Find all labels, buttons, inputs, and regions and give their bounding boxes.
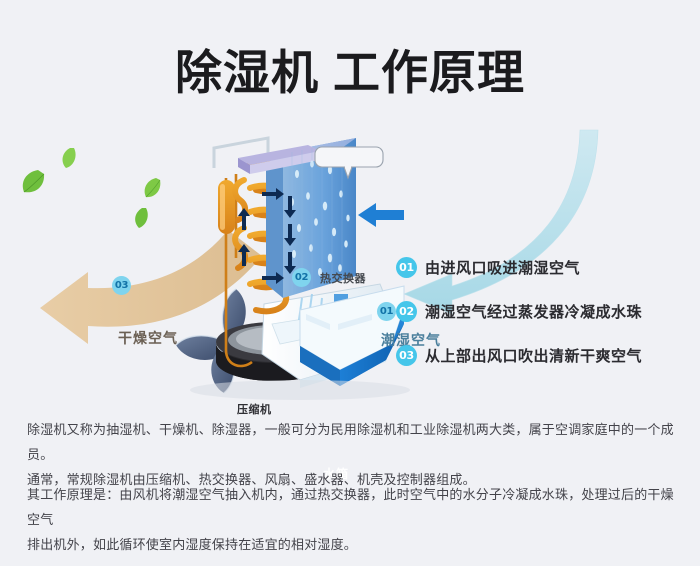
page-title: 除湿机工作原理 <box>0 34 700 103</box>
legend-item-02: 02 潮湿空气经过蒸发器冷凝成水珠 <box>396 300 686 322</box>
compressor-label: 压缩机 <box>237 401 272 417</box>
body-paragraph-2: 其工作原理是：由风机将潮湿空气抽入机内，通过热交换器，此时空气中的水分子冷凝成水… <box>27 483 677 558</box>
legend-text-03: 从上部出风口吹出清新干爽空气 <box>425 345 642 366</box>
legend-badge-01: 01 <box>396 257 417 278</box>
inlet-arrow <box>358 203 404 227</box>
legend-badge-02: 02 <box>396 301 417 322</box>
dry-air-label: 干燥空气 <box>118 328 178 348</box>
legend-badge-03: 03 <box>396 345 417 366</box>
legend-list: 01 由进风口吸进潮湿空气 02 潮湿空气经过蒸发器冷凝成水珠 03 从上部出风… <box>396 256 686 388</box>
page-root: 除湿机工作原理 <box>0 0 700 566</box>
body-paragraph-2-line-2: 排出机外，如此循环使室内湿度保持在适宜的相对湿度。 <box>27 533 677 558</box>
page-title-part1: 除湿机 <box>175 46 319 101</box>
page-title-part2: 工作原理 <box>333 46 525 101</box>
body-paragraph-1-line-1: 除湿机又称为抽湿机、干燥机、除湿器，一般可分为民用除湿机和工业除湿机两大类，属于… <box>27 418 677 468</box>
legend-item-01: 01 由进风口吸进潮湿空气 <box>396 256 686 278</box>
body-paragraph-1: 除湿机又称为抽湿机、干燥机、除湿器，一般可分为民用除湿机和工业除湿机两大类，属于… <box>27 418 677 493</box>
leaf-icon-group <box>23 148 161 228</box>
diagram-badge-02: 02 <box>292 268 311 287</box>
diagram-badge-03: 03 <box>112 276 131 295</box>
legend-text-02: 潮湿空气经过蒸发器冷凝成水珠 <box>425 301 642 322</box>
heat-exchanger-label: 热交换器 <box>320 270 366 286</box>
body-paragraph-2-line-1: 其工作原理是：由风机将潮湿空气抽入机内，通过热交换器，此时空气中的水分子冷凝成水… <box>27 483 677 533</box>
diagram-badge-01: 01 <box>377 302 396 321</box>
machine-shadow <box>190 380 410 400</box>
legend-text-01: 由进风口吸进潮湿空气 <box>425 257 580 278</box>
legend-item-03: 03 从上部出风口吹出清新干爽空气 <box>396 344 686 366</box>
